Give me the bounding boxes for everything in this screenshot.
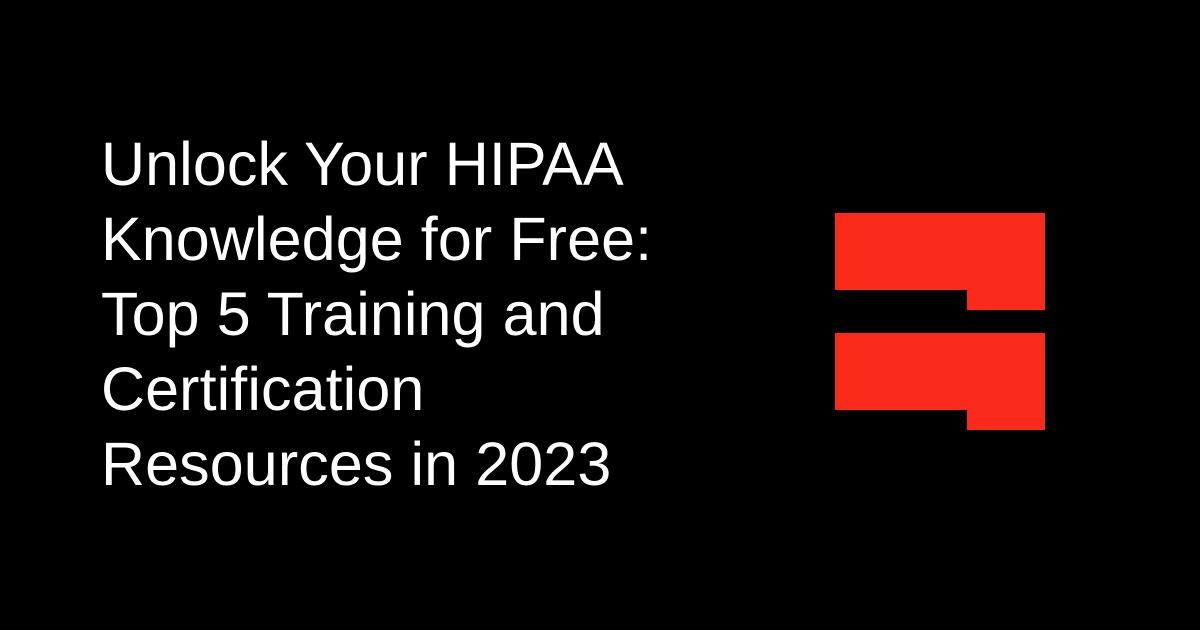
equals-mark-logo-icon [835,213,1045,430]
logo-bar-lower [835,333,1045,430]
brand-logo [835,213,1045,430]
social-share-card: Unlock Your HIPAA Knowledge for Free: To… [0,0,1200,630]
logo-bar-upper [835,213,1045,310]
page-title: Unlock Your HIPAA Knowledge for Free: To… [101,127,761,502]
